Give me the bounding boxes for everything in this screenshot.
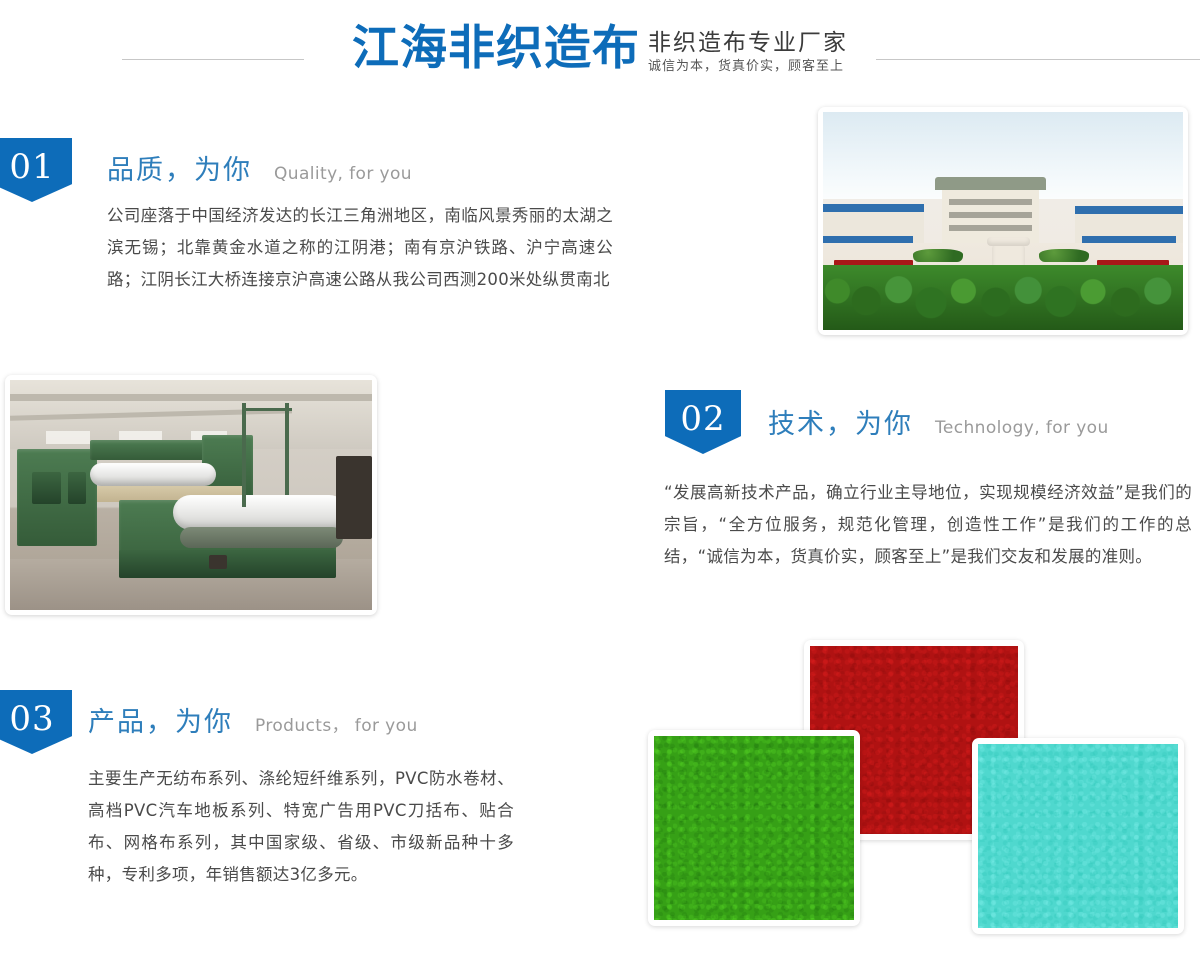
section-heading-01: 品质，为你 Quality, for you bbox=[107, 148, 412, 187]
brand-slogan: 诚信为本，货真价实，顾客至上 bbox=[648, 59, 848, 75]
factory-aerial-photo bbox=[818, 107, 1188, 335]
pvc-swatch-green-surface bbox=[654, 736, 854, 920]
section-heading-03: 产品，为你 Products， for you bbox=[88, 700, 418, 739]
section-body-02: “发展高新技术产品，确立行业主导地位，实现规模经济效益”是我们的宗旨，“全方位服… bbox=[664, 477, 1192, 573]
section-heading-cn-02: 技术，为你 bbox=[768, 402, 913, 441]
pvc-swatch-turquoise bbox=[972, 738, 1184, 934]
brand-subtitle: 非织造布专业厂家 bbox=[648, 31, 848, 56]
header-brand-block: 江海非织造布 非织造布专业厂家 诚信为本，货真价实，顾客至上 bbox=[0, 0, 1200, 100]
section-heading-en-01: Quality, for you bbox=[274, 164, 412, 184]
section-heading-02: 技术，为你 Technology, for you bbox=[768, 402, 1109, 441]
section-body-01: 公司座落于中国经济发达的长江三角洲地区，南临风景秀丽的太湖之滨无锡；北靠黄金水道… bbox=[107, 200, 613, 296]
brand-subtitle-block: 非织造布专业厂家 诚信为本，货真价实，顾客至上 bbox=[648, 25, 848, 75]
section-badge-01: 01 bbox=[0, 138, 72, 202]
section-badge-02: 02 bbox=[665, 390, 741, 454]
section-heading-en-03: Products， for you bbox=[255, 711, 418, 736]
brand-title: 江海非织造布 bbox=[352, 25, 640, 76]
pvc-swatch-green bbox=[648, 730, 860, 926]
section-body-03: 主要生产无纺布系列、涤纶短纤维系列，PVC防水卷材、高档PVC汽车地板系列、特宽… bbox=[88, 763, 514, 891]
section-heading-en-02: Technology, for you bbox=[935, 418, 1109, 438]
section-heading-cn-03: 产品，为你 bbox=[88, 700, 233, 739]
section-badge-03: 03 bbox=[0, 690, 72, 754]
page-header: 江海非织造布 非织造布专业厂家 诚信为本，货真价实，顾客至上 bbox=[0, 0, 1200, 100]
section-heading-cn-01: 品质，为你 bbox=[107, 148, 252, 187]
pvc-swatch-turquoise-surface bbox=[978, 744, 1178, 928]
production-machine-photo bbox=[5, 375, 377, 615]
